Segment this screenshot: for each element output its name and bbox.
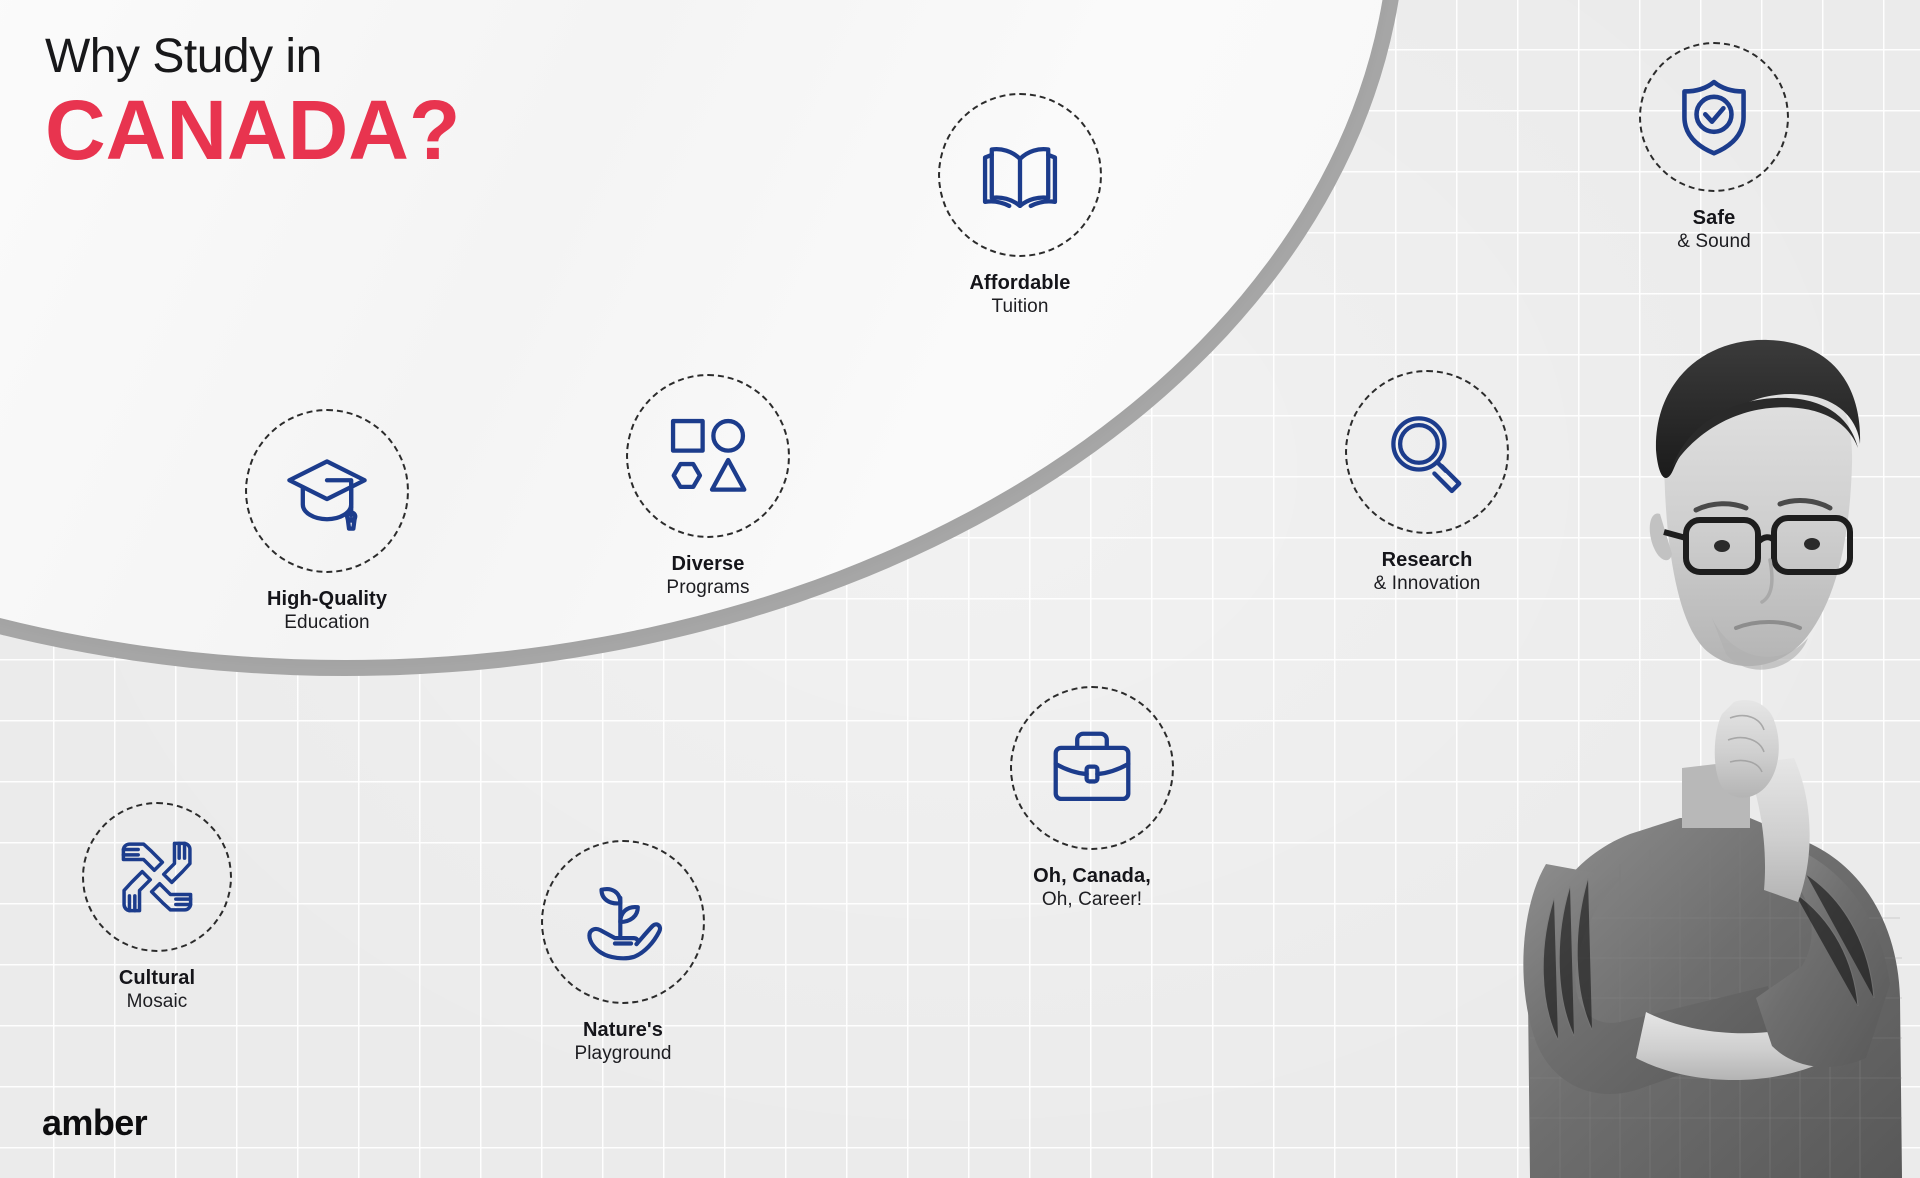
poster-canvas: Why Study in CANADA? xyxy=(0,0,1920,1178)
feature-caption: Safe & Sound xyxy=(1584,206,1844,254)
dashed-circle xyxy=(82,802,232,952)
feature-title: High-Quality xyxy=(197,587,457,611)
feature-diverse-programs[interactable]: Diverse Programs xyxy=(578,374,838,600)
feature-high-quality-education[interactable]: High-Quality Education xyxy=(197,409,457,635)
feature-caption: Research & Innovation xyxy=(1297,548,1557,596)
feature-caption: Nature's Playground xyxy=(493,1018,753,1066)
feature-caption: Diverse Programs xyxy=(578,552,838,600)
dashed-circle xyxy=(1639,42,1789,192)
feature-title: Research xyxy=(1297,548,1557,572)
feature-title: Safe xyxy=(1584,206,1844,230)
feature-research-innovation[interactable]: Research & Innovation xyxy=(1297,370,1557,596)
dashed-circle xyxy=(938,93,1102,257)
feature-caption: Cultural Mosaic xyxy=(27,966,287,1014)
feature-title: Cultural xyxy=(27,966,287,990)
feature-subtitle: Mosaic xyxy=(27,990,287,1013)
feature-subtitle: Playground xyxy=(493,1042,753,1065)
feature-subtitle: Tuition xyxy=(890,295,1150,318)
feature-title: Diverse xyxy=(578,552,838,576)
feature-title: Nature's xyxy=(493,1018,753,1042)
headline-line-1: Why Study in xyxy=(45,30,460,84)
dashed-circle xyxy=(541,840,705,1004)
feature-caption: Oh, Canada, Oh, Career! xyxy=(962,864,1222,912)
open-book-icon xyxy=(977,132,1063,218)
shield-check-icon xyxy=(1671,74,1757,160)
feature-natures-playground[interactable]: Nature's Playground xyxy=(493,840,753,1066)
feature-title: Oh, Canada, xyxy=(962,864,1222,888)
dashed-circle xyxy=(1010,686,1174,850)
magnifying-glass-icon xyxy=(1384,409,1470,495)
feature-subtitle: Education xyxy=(197,611,457,634)
amber-logo[interactable]: amber xyxy=(42,1102,147,1144)
feature-subtitle: Programs xyxy=(578,576,838,599)
feature-subtitle: Oh, Career! xyxy=(962,888,1222,911)
briefcase-icon xyxy=(1049,725,1135,811)
dashed-circle xyxy=(1345,370,1509,534)
dashed-circle xyxy=(245,409,409,573)
headline-line-2: CANADA? xyxy=(45,88,460,172)
feature-caption: High-Quality Education xyxy=(197,587,457,635)
feature-subtitle: & Sound xyxy=(1584,230,1844,253)
feature-career[interactable]: Oh, Canada, Oh, Career! xyxy=(962,686,1222,912)
headline-block: Why Study in CANADA? xyxy=(45,30,460,172)
four-hands-icon xyxy=(114,834,200,920)
dashed-circle xyxy=(626,374,790,538)
feature-affordable-tuition[interactable]: Affordable Tuition xyxy=(890,93,1150,319)
graduation-cap-icon xyxy=(284,448,370,534)
feature-caption: Affordable Tuition xyxy=(890,271,1150,319)
feature-cultural-mosaic[interactable]: Cultural Mosaic xyxy=(27,802,287,1014)
shapes-icon xyxy=(665,413,751,499)
feature-subtitle: & Innovation xyxy=(1297,572,1557,595)
hand-plant-icon xyxy=(580,879,666,965)
feature-title: Affordable xyxy=(890,271,1150,295)
feature-safe-and-sound[interactable]: Safe & Sound xyxy=(1584,42,1844,254)
